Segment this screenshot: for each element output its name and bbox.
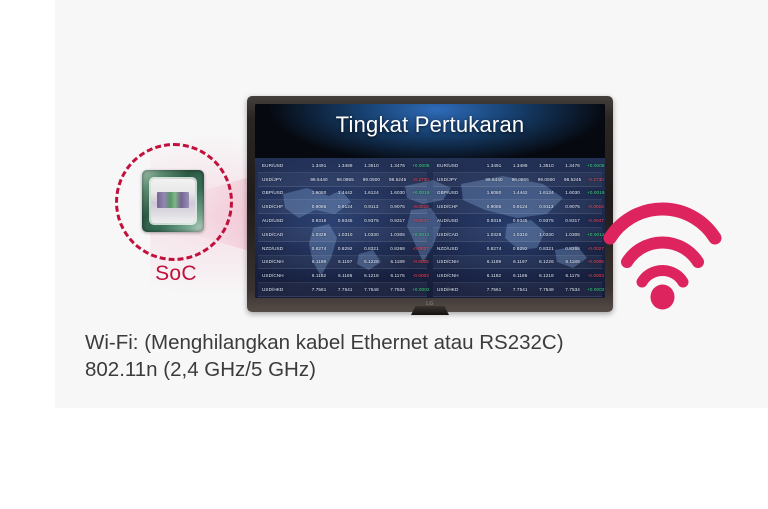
cell-pair: USD/CAD bbox=[258, 232, 306, 237]
soc-label: SoC bbox=[110, 262, 242, 286]
cell-high: 7.7548 bbox=[358, 287, 384, 292]
table-row: USD/CHF0.90850.91240.91130.9075-0.0015 bbox=[258, 200, 427, 214]
cell-low: 1.0306 bbox=[560, 232, 586, 237]
caption-line-2: 802.11n (2,4 GHz/5 GHz) bbox=[85, 356, 725, 383]
table-row: USD/CNH6.11896.11976.12266.1189-0.0005 bbox=[433, 256, 602, 270]
cell-high: 6.1226 bbox=[358, 259, 384, 264]
cell-pair: GBP/USD bbox=[433, 190, 481, 195]
cell-ask: 1.4442 bbox=[507, 190, 533, 195]
cell-change: -0.0003 bbox=[411, 273, 431, 278]
cell-pair: USD/CNH bbox=[433, 273, 481, 278]
cell-low: 1.0306 bbox=[385, 232, 411, 237]
cell-high: 6.1226 bbox=[533, 259, 559, 264]
cell-high: 0.9375 bbox=[358, 218, 384, 223]
cell-bid: 0.8274 bbox=[481, 246, 507, 251]
cell-low: 1.6030 bbox=[560, 190, 586, 195]
cell-low: 0.9075 bbox=[385, 204, 411, 209]
cell-change: -0.0005 bbox=[411, 259, 431, 264]
cell-change: +0.0002 bbox=[411, 287, 431, 292]
cell-pair: USD/JPY bbox=[433, 177, 481, 182]
screen-title: Tingkat Pertukaran bbox=[255, 112, 605, 138]
tv-illustration: Tingkat Pertukaran EU bbox=[247, 96, 613, 312]
cell-change: -0.2730 bbox=[586, 177, 605, 182]
cell-ask: 1.4442 bbox=[332, 190, 358, 195]
cell-low: 1.3476 bbox=[385, 163, 411, 168]
cell-low: 98.5245 bbox=[560, 177, 586, 182]
cell-pair: USD/CNH bbox=[258, 273, 306, 278]
cell-ask: 0.9345 bbox=[332, 218, 358, 223]
cell-high: 0.8321 bbox=[533, 246, 559, 251]
cell-ask: 1.3489 bbox=[507, 163, 533, 168]
cell-pair: USD/CHF bbox=[433, 204, 481, 209]
caption-line-1: Wi-Fi: (Menghilangkan kabel Ethernet ata… bbox=[85, 329, 725, 356]
table-row: USD/CHF0.90850.91240.91130.9075-0.0015 bbox=[433, 200, 602, 214]
cell-low: 7.7534 bbox=[560, 287, 586, 292]
table-row: AUD/USD0.93180.93450.93750.9317-0.0047 bbox=[258, 214, 427, 228]
cell-pair: EUR/USD bbox=[433, 163, 481, 168]
cell-bid: 98.6440 bbox=[306, 177, 332, 182]
cell-change: +0.0019 bbox=[411, 190, 431, 195]
cell-ask: 7.7541 bbox=[507, 287, 533, 292]
table-row: EUR/USD1.34911.34891.35101.3476+0.0005 bbox=[433, 159, 602, 173]
cell-bid: 1.6080 bbox=[306, 190, 332, 195]
cell-ask: 0.8292 bbox=[332, 246, 358, 251]
cell-low: 0.9075 bbox=[560, 204, 586, 209]
cell-high: 99.0500 bbox=[358, 177, 384, 182]
illustration-stage: SoC Tingkat Pertukaran bbox=[0, 0, 768, 509]
cell-bid: 7.7561 bbox=[306, 287, 332, 292]
cell-pair: USD/HKD bbox=[433, 287, 481, 292]
cell-ask: 0.9345 bbox=[507, 218, 533, 223]
cell-low: 7.7534 bbox=[385, 287, 411, 292]
cell-ask: 0.9124 bbox=[507, 204, 533, 209]
table-row: USD/CNH6.11826.11866.12186.1175-0.0003 bbox=[433, 269, 602, 283]
cell-low: 0.9317 bbox=[385, 218, 411, 223]
screen-body: EUR/USD1.34911.34891.35101.3476+0.0005US… bbox=[255, 158, 605, 298]
cell-bid: 6.1189 bbox=[306, 259, 332, 264]
cell-ask: 1.0310 bbox=[507, 232, 533, 237]
cell-ask: 6.1186 bbox=[507, 273, 533, 278]
cell-low: 0.9317 bbox=[560, 218, 586, 223]
cell-low: 6.1189 bbox=[560, 259, 586, 264]
cell-pair: USD/CNH bbox=[433, 259, 481, 264]
table-row: EUR/USD1.34911.34891.35101.3476+0.0005 bbox=[258, 159, 427, 173]
table-row: GBP/USD1.60801.44421.61241.6030+0.0019 bbox=[258, 187, 427, 201]
cell-low: 0.8268 bbox=[385, 246, 411, 251]
soc-group: SoC bbox=[110, 140, 242, 310]
cell-ask: 98.0865 bbox=[507, 177, 533, 182]
caption-text: Wi-Fi: (Menghilangkan kabel Ethernet ata… bbox=[85, 329, 725, 383]
cell-bid: 1.0328 bbox=[481, 232, 507, 237]
cell-high: 0.8321 bbox=[358, 246, 384, 251]
cell-pair: USD/HKD bbox=[258, 287, 306, 292]
cell-low: 1.6030 bbox=[385, 190, 411, 195]
tv-screen: Tingkat Pertukaran EU bbox=[255, 104, 605, 298]
cell-bid: 0.9318 bbox=[306, 218, 332, 223]
cell-high: 1.3510 bbox=[358, 163, 384, 168]
cell-change: -0.0015 bbox=[411, 204, 431, 209]
soc-chip-icon bbox=[142, 170, 204, 232]
cell-high: 99.0500 bbox=[533, 177, 559, 182]
screen-header: Tingkat Pertukaran bbox=[255, 104, 605, 158]
cell-high: 1.3510 bbox=[533, 163, 559, 168]
cell-bid: 7.7561 bbox=[481, 287, 507, 292]
table-row: USD/HKD7.75617.75417.75487.7534+0.0002 bbox=[433, 283, 602, 297]
cell-change: +0.0019 bbox=[586, 190, 605, 195]
cell-low: 6.1175 bbox=[385, 273, 411, 278]
table-row: AUD/USD0.93180.93450.93750.9317-0.0047 bbox=[433, 214, 602, 228]
cell-pair: USD/CAD bbox=[433, 232, 481, 237]
cell-ask: 6.1186 bbox=[332, 273, 358, 278]
tv-stand-icon bbox=[411, 306, 449, 315]
cell-ask: 1.0310 bbox=[332, 232, 358, 237]
cell-low: 6.1189 bbox=[385, 259, 411, 264]
quote-table-left: EUR/USD1.34911.34891.35101.3476+0.0005US… bbox=[255, 158, 430, 298]
cell-high: 6.1218 bbox=[533, 273, 559, 278]
cell-ask: 0.8292 bbox=[507, 246, 533, 251]
cell-pair: NZD/USD bbox=[433, 246, 481, 251]
cell-bid: 0.9085 bbox=[481, 204, 507, 209]
cell-pair: USD/CHF bbox=[258, 204, 306, 209]
cell-bid: 6.1182 bbox=[306, 273, 332, 278]
cell-bid: 0.8274 bbox=[306, 246, 332, 251]
cell-pair: GBP/USD bbox=[258, 190, 306, 195]
cell-high: 0.9113 bbox=[533, 204, 559, 209]
cell-bid: 6.1182 bbox=[481, 273, 507, 278]
cell-high: 1.0330 bbox=[533, 232, 559, 237]
cell-low: 0.8268 bbox=[560, 246, 586, 251]
table-row: USD/CNH6.11826.11866.12186.1175-0.0003 bbox=[258, 269, 427, 283]
cell-bid: 1.3491 bbox=[481, 163, 507, 168]
cell-change: +0.0012 bbox=[411, 232, 431, 237]
cell-change: -0.0027 bbox=[411, 246, 431, 251]
cell-pair: NZD/USD bbox=[258, 246, 306, 251]
cell-high: 0.9113 bbox=[358, 204, 384, 209]
table-row: USD/JPY98.644098.086599.050098.5245-0.27… bbox=[433, 173, 602, 187]
table-row: USD/CNH6.11896.11976.12266.1189-0.0005 bbox=[258, 256, 427, 270]
cell-pair: USD/JPY bbox=[258, 177, 306, 182]
cell-ask: 0.9124 bbox=[332, 204, 358, 209]
cell-bid: 1.3491 bbox=[306, 163, 332, 168]
cell-bid: 6.1189 bbox=[481, 259, 507, 264]
table-row: USD/JPY98.644098.086599.050098.5245-0.27… bbox=[258, 173, 427, 187]
cell-pair: AUD/USD bbox=[258, 218, 306, 223]
cell-bid: 0.9085 bbox=[306, 204, 332, 209]
cell-low: 6.1175 bbox=[560, 273, 586, 278]
table-row: USD/CAD1.03281.03101.03301.0306+0.0012 bbox=[433, 228, 602, 242]
table-row: GBP/USD1.60801.44421.61241.6030+0.0019 bbox=[433, 187, 602, 201]
table-row: USD/HKD7.75617.75417.75487.7534+0.0002 bbox=[258, 283, 427, 297]
cell-low: 98.5245 bbox=[385, 177, 411, 182]
cell-ask: 6.1197 bbox=[332, 259, 358, 264]
cell-change: +0.0005 bbox=[586, 163, 605, 168]
cell-high: 6.1218 bbox=[358, 273, 384, 278]
cell-ask: 1.3489 bbox=[332, 163, 358, 168]
quote-tables: EUR/USD1.34911.34891.35101.3476+0.0005US… bbox=[255, 158, 605, 298]
cell-high: 1.6124 bbox=[533, 190, 559, 195]
wifi-icon bbox=[600, 198, 725, 310]
cell-ask: 7.7541 bbox=[332, 287, 358, 292]
cell-high: 7.7548 bbox=[533, 287, 559, 292]
cell-change: +0.0005 bbox=[411, 163, 431, 168]
cell-pair: AUD/USD bbox=[433, 218, 481, 223]
cell-bid: 1.0328 bbox=[306, 232, 332, 237]
cell-low: 1.3476 bbox=[560, 163, 586, 168]
quote-table-right: EUR/USD1.34911.34891.35101.3476+0.0005US… bbox=[430, 158, 605, 298]
table-row: NZD/USD0.82740.82920.83210.8268-0.0027 bbox=[433, 242, 602, 256]
cell-change: -0.2730 bbox=[411, 177, 431, 182]
cell-high: 0.9375 bbox=[533, 218, 559, 223]
cell-pair: EUR/USD bbox=[258, 163, 306, 168]
cell-change: -0.0047 bbox=[411, 218, 431, 223]
table-row: USD/CAD1.03281.03101.03301.0306+0.0012 bbox=[258, 228, 427, 242]
cell-pair: USD/CNH bbox=[258, 259, 306, 264]
cell-ask: 98.0865 bbox=[332, 177, 358, 182]
table-row: NZD/USD0.82740.82920.83210.8268-0.0027 bbox=[258, 242, 427, 256]
cell-bid: 0.9318 bbox=[481, 218, 507, 223]
cell-high: 1.6124 bbox=[358, 190, 384, 195]
cell-high: 1.0330 bbox=[358, 232, 384, 237]
cell-bid: 98.6440 bbox=[481, 177, 507, 182]
cell-ask: 6.1197 bbox=[507, 259, 533, 264]
cell-bid: 1.6080 bbox=[481, 190, 507, 195]
